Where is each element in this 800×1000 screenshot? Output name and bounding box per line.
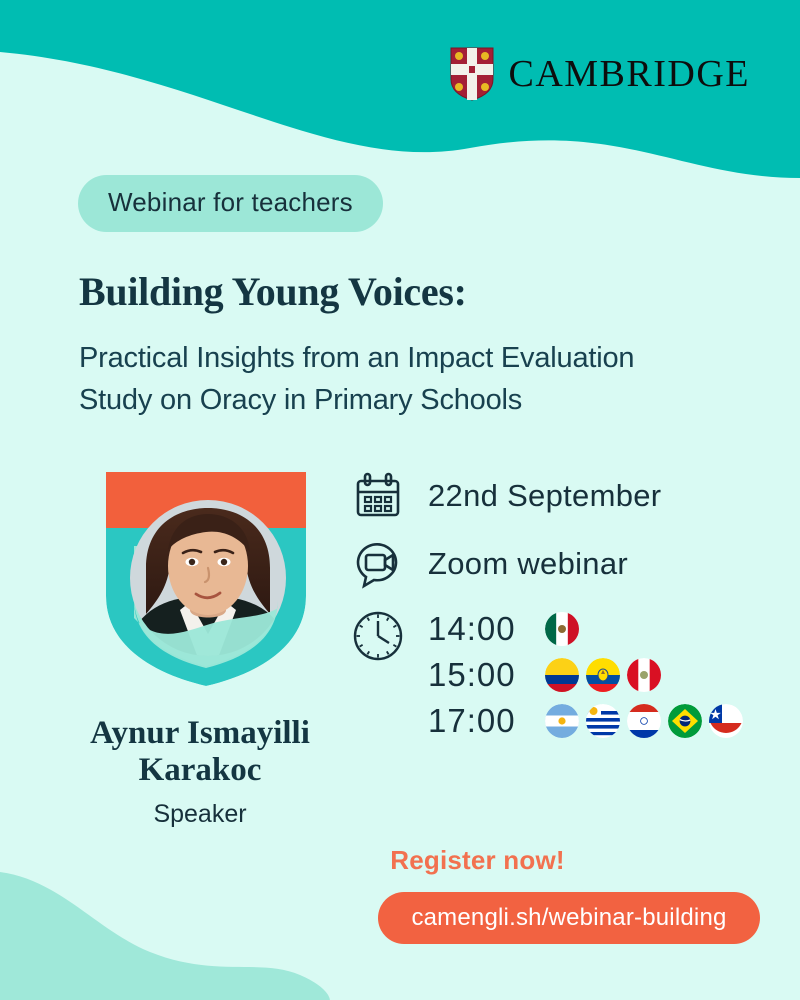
- time-block: 14:00 15:00: [350, 610, 743, 740]
- page-title: Building Young Voices:: [79, 268, 467, 315]
- video-chat-icon: [350, 538, 406, 590]
- flag-chile-icon: [709, 704, 743, 738]
- bottom-mint-blob: [0, 872, 330, 1000]
- speaker-photo: [98, 468, 314, 690]
- register-link-button[interactable]: camengli.sh/webinar-building: [378, 892, 760, 944]
- speaker-name: Aynur Ismayilli Karakoc: [0, 715, 400, 789]
- flag-brazil-icon: [668, 704, 702, 738]
- flag-ecuador-icon: [586, 658, 620, 692]
- detail-row-date: 22nd September: [350, 470, 743, 522]
- flag-argentina-icon: [545, 704, 579, 738]
- time-row-2: 15:00: [428, 656, 743, 694]
- webinar-badge: Webinar for teachers: [78, 175, 383, 232]
- detail-text-date: 22nd September: [428, 478, 661, 514]
- speaker-name-line-2: Karakoc: [0, 752, 400, 789]
- flag-peru-icon: [627, 658, 661, 692]
- cambridge-crest-icon: [450, 47, 494, 101]
- page-subtitle: Practical Insights from an Impact Evalua…: [79, 337, 759, 421]
- flag-paraguay-icon: [627, 704, 661, 738]
- subtitle-line-1: Practical Insights from an Impact Evalua…: [79, 337, 759, 379]
- time-list: 14:00 15:00: [428, 610, 743, 740]
- time-label-1: 14:00: [428, 610, 533, 648]
- time-label-2: 15:00: [428, 656, 533, 694]
- flag-uruguay-icon: [586, 704, 620, 738]
- flag-mexico-icon: [545, 612, 579, 646]
- subtitle-line-2: Study on Oracy in Primary Schools: [79, 379, 759, 421]
- speaker-name-line-1: Aynur Ismayilli: [0, 715, 400, 752]
- speaker-role: Speaker: [0, 800, 400, 829]
- cambridge-wordmark: CAMBRIDGE: [508, 55, 750, 93]
- time-row-3: 17:00: [428, 702, 743, 740]
- flag-colombia-icon: [545, 658, 579, 692]
- register-prompt: Register now!: [0, 845, 800, 876]
- event-details: 22nd September Zoom webinar: [350, 470, 743, 740]
- flag-group-3: [545, 704, 743, 738]
- time-label-3: 17:00: [428, 702, 533, 740]
- flag-group-2: [545, 658, 661, 692]
- detail-text-platform: Zoom webinar: [428, 546, 628, 582]
- calendar-icon: [350, 470, 406, 522]
- cambridge-logo: CAMBRIDGE: [450, 47, 750, 101]
- flag-group-1: [545, 612, 579, 646]
- time-row-1: 14:00: [428, 610, 743, 648]
- clock-icon: [350, 610, 406, 662]
- detail-row-platform: Zoom webinar: [350, 538, 743, 590]
